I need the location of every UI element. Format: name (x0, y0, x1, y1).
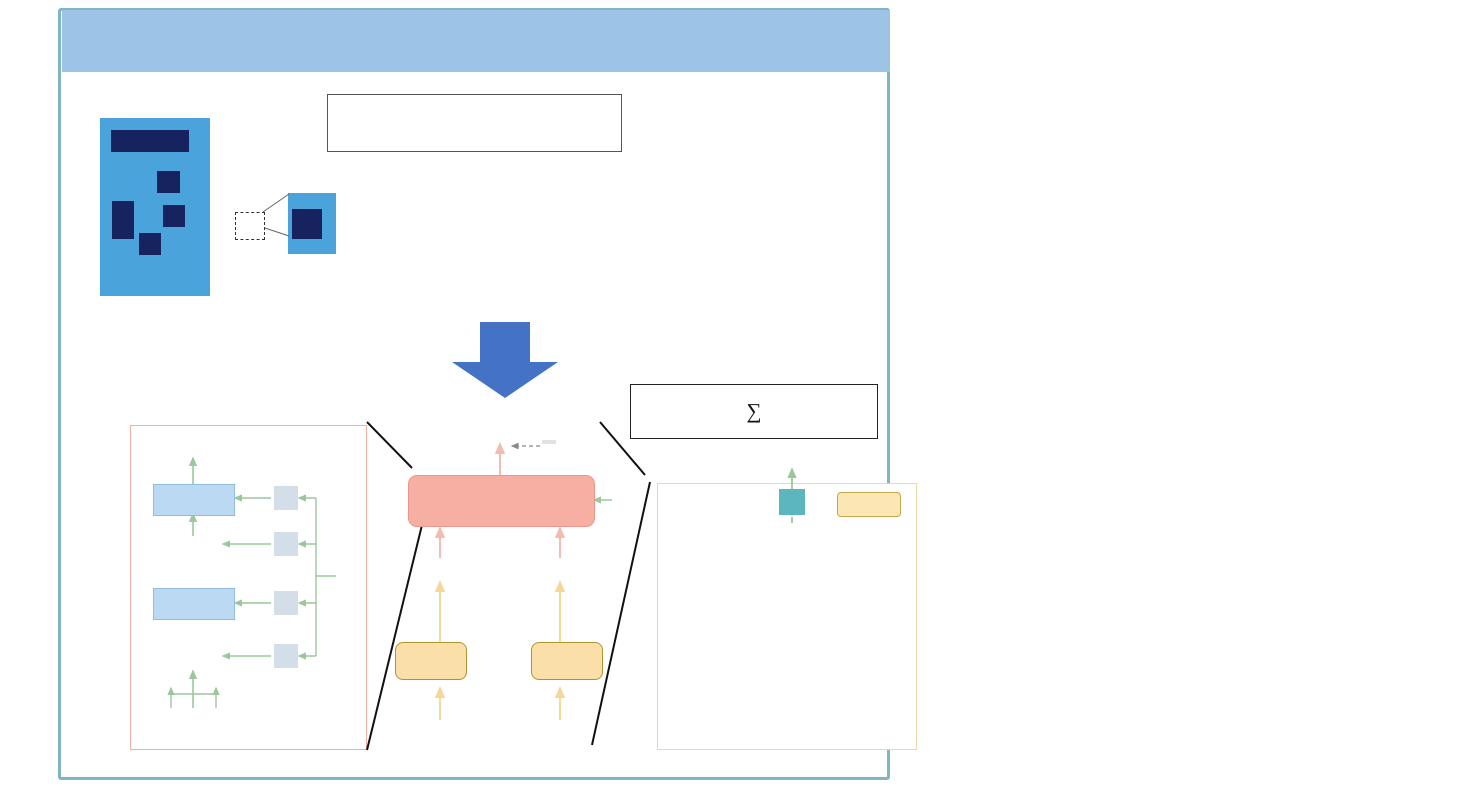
gate-box-g2 (274, 591, 298, 615)
gate-box-g3 (274, 532, 298, 556)
map-figure (100, 118, 210, 296)
sum-sigma: ∑ (747, 401, 762, 422)
hidden-box-h2 (153, 484, 235, 516)
obstacle-square-bottom (139, 233, 161, 255)
gate-box-g4 (274, 486, 298, 510)
obstacle-square-center (163, 205, 185, 227)
loss-equation: ∑ (747, 401, 762, 422)
gate-box-g1 (274, 644, 298, 668)
obstacle-bar-top (111, 130, 189, 152)
down-arrow-icon (445, 322, 565, 400)
qmix-detail-panel (130, 425, 367, 750)
coverage-heatmap (651, 110, 833, 308)
hidden-box-h1 (153, 588, 235, 620)
kan-badge (837, 492, 901, 517)
bullet-list (905, 34, 1465, 774)
mixing-network-box (408, 475, 595, 527)
title-bar (62, 10, 890, 72)
policy-box (779, 489, 805, 515)
callout-connector-lines (255, 190, 345, 270)
obstacle-rect-left (112, 201, 134, 239)
map-background (100, 118, 210, 296)
legend-box (327, 94, 622, 152)
loss-equation-box: ∑ (630, 384, 878, 439)
obstacle-square-upper-right (157, 171, 180, 193)
kan-box-n (531, 642, 603, 680)
coverage-heatmap-canvas (651, 110, 833, 308)
kan-box-1 (395, 642, 467, 680)
